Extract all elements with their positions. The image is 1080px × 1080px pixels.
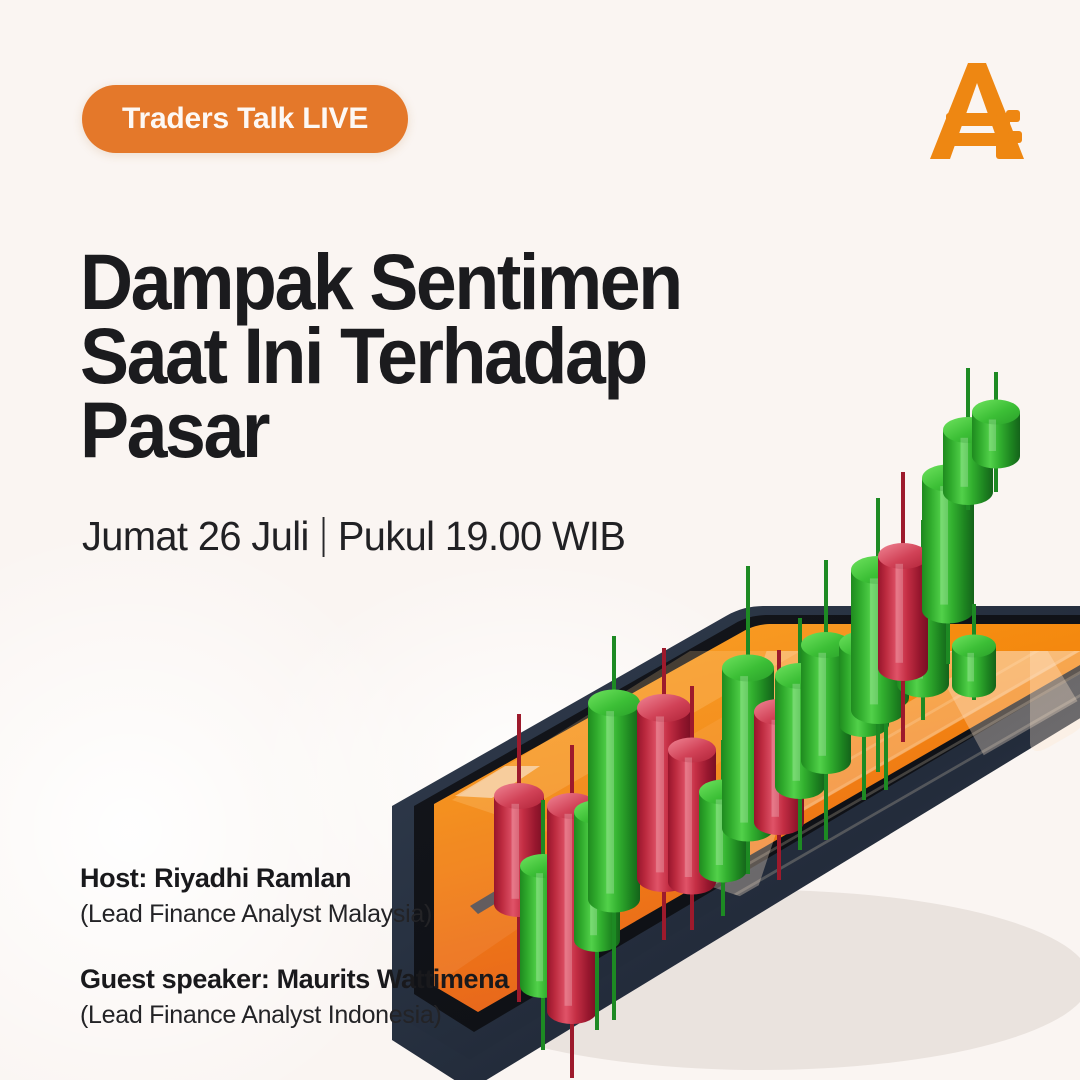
page-title: Dampak Sentimen Saat Ini Terhadap Pasar (80, 245, 750, 468)
headline-line-2: Saat Ini Terhadap (80, 319, 750, 393)
credit-guest: Guest speaker: Maurits Wattimena (Lead F… (80, 963, 509, 1032)
credit-host: Host: Riyadhi Ramlan (Lead Finance Analy… (80, 862, 509, 931)
headline-line-3: Pasar (80, 393, 750, 467)
live-badge-label: Traders Talk LIVE (122, 102, 368, 136)
credit-guest-name: Guest speaker: Maurits Wattimena (80, 963, 509, 996)
speaker-credits: Host: Riyadhi Ramlan (Lead Finance Analy… (80, 862, 509, 1032)
poster-canvas: Traders Talk LIVE Dampak Sentimen Saat I… (0, 0, 1080, 1080)
schedule-separator (322, 517, 324, 557)
headline-line-1: Dampak Sentimen (80, 245, 750, 319)
schedule-date: Jumat 26 Juli (82, 513, 309, 560)
schedule-line: Jumat 26 Juli Pukul 19.00 WIB (82, 513, 625, 560)
brand-a-currency-logo-icon (928, 55, 1028, 165)
credit-host-name: Host: Riyadhi Ramlan (80, 862, 509, 895)
credit-guest-role: (Lead Finance Analyst Indonesia) (80, 999, 509, 1032)
schedule-time: Pukul 19.00 WIB (338, 513, 625, 560)
credit-host-role: (Lead Finance Analyst Malaysia) (80, 898, 509, 931)
live-badge[interactable]: Traders Talk LIVE (82, 85, 408, 153)
